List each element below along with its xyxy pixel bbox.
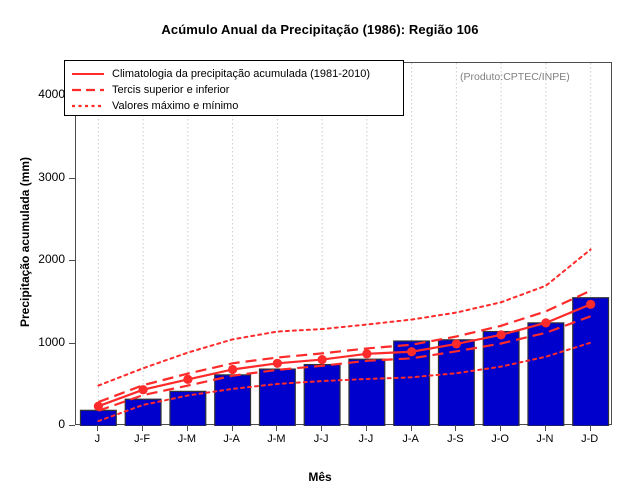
- legend-item: Valores máximo e mínimo: [71, 98, 397, 114]
- x-tick-mark: [187, 425, 188, 431]
- legend-label: Climatologia da precipitação acumulada (…: [112, 68, 370, 80]
- x-tick-label-jo: J-O: [478, 433, 522, 445]
- plot-area: [75, 62, 612, 425]
- bar: [259, 369, 295, 426]
- x-tick-label-ja: J-A: [210, 433, 254, 445]
- climatology-point: [541, 318, 550, 327]
- y-tick-mark: [69, 425, 75, 426]
- x-tick-mark: [321, 425, 322, 431]
- y-tick-mark: [69, 260, 75, 261]
- x-tick-label-j: J: [75, 433, 119, 445]
- y-tick-label: 2000: [5, 252, 65, 266]
- page-title: Acúmulo Anual da Precipitação (1986): Re…: [0, 22, 640, 37]
- x-tick-label-jm: J-M: [254, 433, 298, 445]
- bar: [170, 391, 206, 426]
- x-tick-label-jd: J-D: [568, 433, 612, 445]
- x-tick-label-jj: J-J: [344, 433, 388, 445]
- product-credit: (Produto:CPTEC/INPE): [460, 71, 570, 83]
- climatology-point: [139, 385, 148, 394]
- climatology-point: [362, 349, 371, 358]
- y-tick-mark: [69, 343, 75, 344]
- legend-line-swatch: [71, 100, 105, 112]
- x-tick-mark: [455, 425, 456, 431]
- climatology-point: [497, 330, 506, 339]
- climatology-point: [183, 375, 192, 384]
- x-tick-mark: [366, 425, 367, 431]
- y-tick-label: 0: [5, 417, 65, 431]
- y-tick-label: 1000: [5, 335, 65, 349]
- bar: [215, 375, 251, 426]
- climatology-point: [273, 359, 282, 368]
- x-tick-label-ja: J-A: [389, 433, 433, 445]
- legend-item: Tercis superior e inferior: [71, 82, 397, 98]
- x-tick-mark: [545, 425, 546, 431]
- climatology-point: [228, 365, 237, 374]
- y-tick-label: 4000: [5, 87, 65, 101]
- legend-label: Tercis superior e inferior: [112, 84, 229, 96]
- y-axis-label: Precipitação acumulada (mm): [18, 62, 32, 422]
- bar: [125, 399, 161, 426]
- bar: [80, 410, 116, 426]
- legend-line-swatch: [71, 68, 105, 80]
- x-tick-mark: [232, 425, 233, 431]
- precipitation-chart: Acúmulo Anual da Precipitação (1986): Re…: [0, 0, 640, 500]
- x-tick-mark: [276, 425, 277, 431]
- x-tick-mark: [411, 425, 412, 431]
- climatology-point: [586, 300, 595, 309]
- y-tick-mark: [69, 178, 75, 179]
- legend-item: Climatologia da precipitação acumulada (…: [71, 66, 397, 82]
- climatology-point: [452, 339, 461, 348]
- x-axis-label: Mês: [0, 470, 640, 484]
- legend: Climatologia da precipitação acumulada (…: [64, 60, 404, 116]
- x-tick-label-js: J-S: [433, 433, 477, 445]
- x-tick-mark: [142, 425, 143, 431]
- climatology-point: [318, 355, 327, 364]
- x-tick-mark: [500, 425, 501, 431]
- x-tick-label-jm: J-M: [165, 433, 209, 445]
- bar: [349, 359, 385, 426]
- x-tick-mark: [590, 425, 591, 431]
- bar: [438, 340, 474, 426]
- x-tick-label-jf: J-F: [120, 433, 164, 445]
- plot-svg: [76, 63, 613, 426]
- x-tick-label-jn: J-N: [523, 433, 567, 445]
- x-tick-mark: [97, 425, 98, 431]
- climatology-point: [407, 347, 416, 356]
- legend-label: Valores máximo e mínimo: [112, 100, 238, 112]
- climatology-point: [94, 402, 103, 411]
- legend-line-swatch: [71, 84, 105, 96]
- bar: [528, 323, 564, 426]
- y-tick-label: 3000: [5, 170, 65, 184]
- x-tick-label-jj: J-J: [299, 433, 343, 445]
- bar: [304, 365, 340, 426]
